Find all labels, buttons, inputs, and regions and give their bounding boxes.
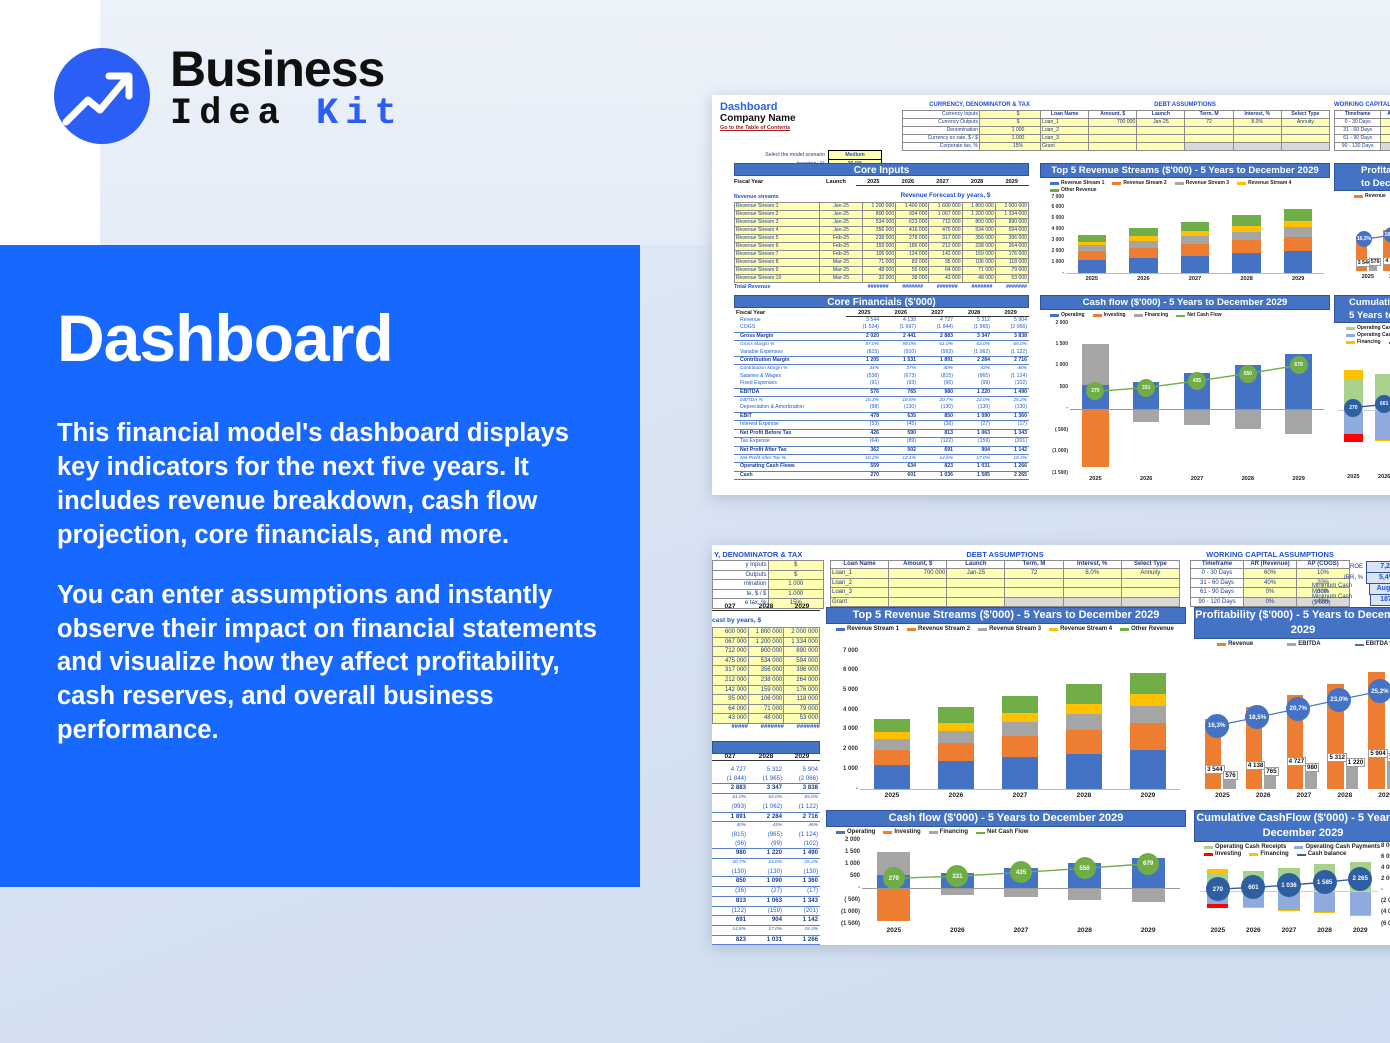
stream-value-clipped[interactable]: 475 000	[713, 656, 749, 666]
stream-value-clipped[interactable]: 142 000	[713, 685, 749, 695]
debt-table-b[interactable]: Loan NameAmount, $LaunchTerm, MInterest,…	[830, 560, 1180, 607]
debt-cell[interactable]: Loan_3	[1041, 135, 1089, 143]
stream-launch[interactable]: Jan-25	[820, 219, 863, 227]
wc-cell[interactable]: 31 - 60 Days	[1191, 578, 1244, 588]
debt-cell[interactable]: 72	[1005, 569, 1063, 579]
brand-logo: Business Idea Kit	[52, 42, 472, 150]
wc-cell[interactable]: 40%	[1381, 127, 1390, 135]
stream-value[interactable]: 159 000	[962, 251, 995, 259]
table-row: Revenue3 5444 1384 7275 3125 904	[734, 317, 1029, 324]
currency-row: te, $ / $1.000	[713, 589, 824, 599]
debt-col-header: Term, M	[1005, 561, 1063, 569]
debt-cell[interactable]	[1137, 135, 1185, 143]
debt-cell[interactable]	[889, 597, 947, 607]
debt-cell[interactable]	[1233, 135, 1281, 143]
stream-launch[interactable]: Jan-25	[820, 227, 863, 235]
debt-cell[interactable]	[947, 588, 1005, 598]
stream-name[interactable]: Revenue Stream 4	[735, 227, 820, 235]
cf-value: 16.3%	[844, 397, 881, 405]
stream-value[interactable]: 1 400 000	[896, 203, 929, 211]
cf-value-clipped: 1 266	[784, 935, 820, 945]
currency-row: Outputs$	[713, 570, 824, 580]
stream-value-clipped[interactable]: 800 000	[748, 647, 784, 657]
legend-swatch	[836, 628, 845, 632]
debt-cell[interactable]	[1063, 597, 1121, 607]
currency-value[interactable]: 1.000	[768, 589, 824, 599]
chart-cashflow-plot: (1 500)(1 000)( 500)-5001 0001 5002 0002…	[1040, 319, 1330, 487]
brand-wordmark: Business Idea Kit	[170, 44, 404, 134]
legend-swatch	[1237, 182, 1246, 186]
stream-value[interactable]: 238 000	[962, 243, 995, 251]
wc-cell[interactable]: 61 - 90 Days	[1191, 588, 1244, 598]
bar-segment	[1066, 754, 1101, 789]
cf-value: 1 585	[955, 471, 992, 479]
stream-value[interactable]: 124 000	[896, 251, 929, 259]
table-row: (130)(130)(130)	[712, 868, 820, 877]
total-revenue-label: Total Revenue	[734, 284, 816, 290]
stream-value[interactable]: 1 200 000	[863, 203, 896, 211]
stream-value-clipped[interactable]: 317 000	[713, 666, 749, 676]
stream-value-clipped[interactable]: 95 000	[713, 695, 749, 705]
year-header: 2029	[994, 179, 1029, 185]
cf-value-clipped: 14.6%	[712, 925, 748, 935]
debt-cell[interactable]	[1185, 135, 1233, 143]
stream-launch[interactable]: Mar-25	[820, 267, 863, 275]
cf-value-clipped: (1 124)	[784, 831, 820, 840]
bar-segment	[1284, 227, 1312, 237]
dashboard-screenshot-bottom[interactable]: Y, DENOMINATOR & TAX y Inputs$Outputs$mi…	[712, 545, 1390, 945]
stream-launch[interactable]: Mar-25	[820, 259, 863, 267]
stream-value[interactable]: 71 000	[863, 259, 896, 267]
bar-segment	[1066, 730, 1101, 754]
debt-cell[interactable]	[1005, 578, 1063, 588]
cf-year-header-clipped: 027	[712, 753, 748, 760]
debt-cell[interactable]	[1185, 127, 1233, 135]
cf-value: 2 883	[918, 332, 955, 340]
stream-value-clipped[interactable]: 48 000	[748, 714, 784, 724]
cf-row-label: COGS	[734, 324, 844, 332]
wc-table[interactable]: TimeframeAR (Revenue)AP (COGS) 0 - 30 Da…	[1334, 110, 1390, 151]
stream-value[interactable]: 1 600 000	[929, 203, 962, 211]
legend-swatch	[836, 831, 845, 835]
dashboard-screenshot-top[interactable]: Dashboard Company Name Go to the Table o…	[712, 95, 1390, 495]
core-financials-table-clipped: 4 7275 3125 904(1 844)(1 965)(2 066)2 88…	[712, 766, 820, 945]
chart-profitability-b[interactable]: Profitability ($'000) - 5 Years to Decem…	[1194, 607, 1390, 805]
cf-value-clipped: 46%	[784, 822, 820, 831]
stream-value[interactable]: 475 000	[929, 227, 962, 235]
debt-cell[interactable]	[947, 578, 1005, 588]
stream-value[interactable]: 1 200 000	[962, 211, 995, 219]
wc-cell[interactable]: 0%	[1381, 135, 1390, 143]
debt-cell[interactable]	[1185, 143, 1233, 151]
stream-value-clipped[interactable]: 106 000	[748, 695, 784, 705]
table-row: 8501 0901 360	[712, 877, 820, 887]
bar-segment	[874, 750, 909, 766]
cf-value-clipped: (130)	[784, 868, 820, 877]
wc-cell[interactable]: 60%	[1244, 569, 1297, 579]
total-revenue-value: #######	[856, 284, 891, 290]
stream-launch[interactable]: Jan-25	[820, 211, 863, 219]
chart-top5-plot: -1 0002 0003 0004 0005 0006 0007 0002025…	[1040, 193, 1330, 285]
stream-value[interactable]: 38 000	[896, 275, 929, 283]
debt-cell[interactable]: Grant	[1041, 143, 1089, 151]
debt-cell[interactable]	[1121, 588, 1179, 598]
stream-value[interactable]: 594 000	[995, 227, 1028, 235]
cf-value: 980	[918, 388, 955, 396]
cf-value-clipped: (1 965)	[748, 775, 784, 784]
cf-value: (965)	[955, 373, 992, 380]
stream-value-clipped[interactable]: 396 000	[784, 666, 820, 676]
wc-col-header: AR (Revenue)	[1244, 561, 1297, 569]
debt-col-header: Launch	[1137, 111, 1185, 119]
cf-value: 1 360	[992, 412, 1029, 420]
stream-value-clipped[interactable]: 594 000	[784, 656, 820, 666]
debt-cell[interactable]: Loan_2	[1041, 127, 1089, 135]
debt-cell[interactable]: 700 000	[1089, 119, 1137, 127]
cf-value: 14.6%	[918, 454, 955, 462]
stream-value[interactable]: 1 800 000	[962, 203, 995, 211]
stream-value[interactable]: 56 000	[896, 267, 929, 275]
legend-item: Net Cash Flow	[1176, 312, 1221, 319]
cf-row-label: Fixed Expenses	[734, 380, 844, 388]
debt-cell[interactable]	[1121, 578, 1179, 588]
stream-value[interactable]: 356 000	[863, 227, 896, 235]
legend-swatch	[976, 832, 985, 834]
stream-value[interactable]: 186 000	[896, 243, 929, 251]
stream-launch[interactable]: Mar-25	[820, 275, 863, 283]
cf-year-header-clipped: 2028	[748, 753, 784, 760]
stream-value[interactable]: 934 000	[896, 211, 929, 219]
currency-row: mination1 000	[713, 580, 824, 590]
table-row: Tax Expense(64)(89)(122)(159)(201)	[734, 438, 1029, 446]
stream-launch[interactable]: Feb-25	[820, 251, 863, 259]
cf-value: (1 697)	[881, 324, 918, 332]
table-row: Revenue Stream 3Jan-25534 000623 000712 …	[735, 219, 1029, 227]
stream-value-clipped[interactable]: 534 000	[748, 656, 784, 666]
bar-segment	[1232, 215, 1260, 226]
revenue-forecast-clipped-wrap[interactable]: 600 0001 800 0002 000 000067 0001 200 00…	[712, 627, 820, 730]
y-tick-label: 3 000	[1051, 237, 1064, 243]
stream-value-clipped[interactable]: 890 000	[784, 647, 820, 657]
stream-value[interactable]: 317 000	[929, 235, 962, 243]
wc-cell[interactable]: 0%	[1244, 597, 1297, 607]
debt-cell[interactable]	[1137, 127, 1185, 135]
debt-col-header: Amount, $	[1089, 111, 1137, 119]
chart-cumulative-b[interactable]: Cumulative CashFlow ($'000) - 5 Years to…	[1194, 810, 1390, 940]
cf-value-clipped: 25.2%	[784, 859, 820, 868]
stream-value[interactable]: 159 000	[863, 243, 896, 251]
debt-cell[interactable]	[1063, 578, 1121, 588]
stream-value[interactable]: 43 000	[929, 275, 962, 283]
debt-cell[interactable]	[1005, 597, 1063, 607]
currency-table[interactable]: Currency Inputs$Currency Outputs$Denomin…	[902, 110, 1057, 151]
legend-item: Revenue Stream 2	[907, 626, 970, 633]
stream-name[interactable]: Revenue Stream 8	[735, 259, 820, 267]
revenue-forecast-table-wrap[interactable]: Revenue Stream 1Jan-251 200 0001 400 000…	[734, 202, 1029, 290]
currency-value[interactable]: $	[768, 561, 824, 571]
cf-value: (96)	[918, 380, 955, 388]
cf-value: 23.0%	[955, 397, 992, 405]
table-row: Loan_2	[1041, 127, 1330, 135]
stream-value[interactable]: 534 000	[863, 219, 896, 227]
stream-value-clipped[interactable]: 53 000	[784, 714, 820, 724]
cf-value: (1 524)	[844, 324, 881, 332]
stream-value[interactable]: 800 000	[863, 211, 896, 219]
core-inputs-banner: Core Inputs	[734, 163, 1029, 176]
debt-cell[interactable]: Grant	[831, 597, 889, 607]
stream-value[interactable]: 623 000	[896, 219, 929, 227]
debt-cell[interactable]	[1281, 135, 1329, 143]
wc-cell[interactable]: 61 - 90 Days	[1335, 135, 1381, 143]
stream-launch[interactable]: Feb-25	[820, 235, 863, 243]
stream-value[interactable]: 176 000	[995, 251, 1028, 259]
chart-top5-revenue-b[interactable]: Top 5 Revenue Streams ($'000) - 5 Years …	[826, 607, 1186, 805]
stream-value-clipped[interactable]: 79 000	[784, 704, 820, 714]
table-row: 475 000534 000594 000	[713, 656, 820, 666]
debt-cell[interactable]: 72	[1185, 119, 1233, 127]
stream-value[interactable]: 106 000	[962, 259, 995, 267]
revenue-forecast-table-clipped[interactable]: 600 0001 800 0002 000 000067 0001 200 00…	[712, 627, 820, 724]
stream-value[interactable]: 1 067 000	[929, 211, 962, 219]
bar-segment	[1284, 251, 1312, 273]
stream-value[interactable]: 278 000	[896, 235, 929, 243]
debt-cell[interactable]	[947, 597, 1005, 607]
table-row: Revenue Stream 4Jan-25356 000416 000475 …	[735, 227, 1029, 235]
cf-value: (1 124)	[992, 373, 1029, 380]
stream-value-clipped[interactable]: 067 000	[713, 637, 749, 647]
legend-item: Revenue Stream 1	[1050, 180, 1104, 187]
bar-segment	[938, 707, 973, 722]
stream-value-clipped[interactable]: 43 000	[713, 714, 749, 724]
debt-cell[interactable]	[1063, 588, 1121, 598]
chart-cashflow-title: Cash flow ($'000) - 5 Years to December …	[1040, 295, 1330, 310]
y-tick-label: 4 000	[843, 707, 858, 713]
stream-value[interactable]: 64 000	[929, 267, 962, 275]
category-label: 2026	[1118, 276, 1170, 282]
chart-cash-flow-b[interactable]: Cash flow ($'000) - 5 Years to December …	[826, 810, 1186, 940]
stream-value-clipped[interactable]: 712 000	[713, 647, 749, 657]
cash-balance-bubble: 601	[1375, 395, 1390, 413]
stream-value[interactable]: 95 000	[929, 259, 962, 267]
stream-value[interactable]: 890 000	[995, 219, 1028, 227]
chart-top5-revenue[interactable]: Top 5 Revenue Streams ($'000) - 5 Years …	[1040, 163, 1330, 285]
stream-value[interactable]: 71 000	[962, 267, 995, 275]
debt-table-head-b: Loan NameAmount, $LaunchTerm, MInterest,…	[831, 561, 1180, 569]
currency-value[interactable]: $	[768, 570, 824, 580]
stream-value[interactable]: 712 000	[929, 219, 962, 227]
chart-top5-plot-b: -1 0002 0003 0004 0005 0006 0007 0002025…	[826, 647, 1186, 805]
currency-table-clipped[interactable]: y Inputs$Outputs$mination1 000te, $ / $1…	[712, 560, 824, 609]
stream-value-clipped[interactable]: 356 000	[748, 666, 784, 676]
bar-segment	[1181, 244, 1209, 256]
revenue-forecast-body-clipped: 600 0001 800 0002 000 000067 0001 200 00…	[713, 628, 820, 724]
stream-name[interactable]: Revenue Stream 3	[735, 219, 820, 227]
cf-value: 2 020	[844, 332, 881, 340]
cf-value: 2 284	[955, 357, 992, 365]
cf-value-clipped: 1 090	[748, 877, 784, 887]
table-row: Gross Margin2 0202 4412 8833 3473 838	[734, 332, 1029, 340]
revenue-forecast-table[interactable]: Revenue Stream 1Jan-251 200 0001 400 000…	[734, 202, 1029, 283]
kpi-label: IRR, %	[1344, 575, 1363, 581]
total-revenue-value: #######	[925, 284, 960, 290]
legend-label: Other Revenue	[1131, 626, 1174, 633]
stream-name[interactable]: Revenue Stream 1	[735, 203, 820, 211]
stream-value[interactable]: 238 000	[863, 235, 896, 243]
stream-value-clipped[interactable]: 600 000	[713, 628, 749, 638]
wc-cell[interactable]: 0%	[1381, 143, 1390, 151]
kpi-label: ROE	[1350, 564, 1363, 570]
stream-value[interactable]: 356 000	[962, 235, 995, 243]
core-financials-years: 20252026202720282029	[846, 310, 1029, 317]
debt-cell[interactable]: Annuity	[1121, 569, 1179, 579]
table-of-contents-link[interactable]: Go to the Table of Contents	[720, 124, 830, 132]
stream-value[interactable]: 396 000	[995, 235, 1028, 243]
brand-kit-text: Kit	[316, 93, 404, 135]
wc-cell[interactable]: 40%	[1244, 578, 1297, 588]
stream-value[interactable]: 264 000	[995, 243, 1028, 251]
debt-cell[interactable]: 8.0%	[1233, 119, 1281, 127]
stream-value[interactable]: 53 000	[995, 275, 1028, 283]
legend-label: Revenue Stream 2	[918, 626, 970, 633]
debt-cell[interactable]	[1005, 588, 1063, 598]
chart-top5-legend: Revenue Stream 1Revenue Stream 2Revenue …	[1040, 178, 1330, 194]
cf-value-clipped: 1 360	[784, 877, 820, 887]
debt-cell[interactable]: Jan-25	[947, 569, 1005, 579]
y-tick-label: -	[1062, 270, 1064, 276]
table-row: Grant	[1041, 143, 1330, 151]
year-header: 2026	[891, 179, 926, 185]
stream-value-clipped[interactable]: 264 000	[784, 675, 820, 685]
debt-cell[interactable]	[1089, 143, 1137, 151]
stream-value[interactable]: 142 000	[929, 251, 962, 259]
stream-value-clipped[interactable]: 1 334 000	[784, 637, 820, 647]
stream-value-clipped[interactable]: 118 000	[784, 695, 820, 705]
debt-cell[interactable]	[889, 588, 947, 598]
stream-value-clipped[interactable]: 159 000	[748, 685, 784, 695]
stream-value-clipped[interactable]: 1 200 000	[748, 637, 784, 647]
debt-cell[interactable]	[1121, 597, 1179, 607]
cf-value: (130)	[992, 404, 1029, 412]
debt-cell[interactable]	[1233, 127, 1281, 135]
bar-segment	[1129, 236, 1157, 241]
debt-cell[interactable]	[1089, 127, 1137, 135]
debt-cell[interactable]	[1137, 143, 1185, 151]
wc-cell[interactable]: 0%	[1244, 588, 1297, 598]
stream-value[interactable]: 48 000	[962, 275, 995, 283]
stream-value[interactable]: 48 000	[863, 267, 896, 275]
stream-value-clipped[interactable]: 2 000 000	[784, 628, 820, 638]
cf-value: 691	[918, 446, 955, 454]
stream-value[interactable]: 83 000	[896, 259, 929, 267]
debt-cell[interactable]: Loan_3	[831, 588, 889, 598]
stream-name[interactable]: Revenue Stream 6	[735, 243, 820, 251]
stream-name[interactable]: Revenue Stream 7	[735, 251, 820, 259]
stream-value[interactable]: 118 000	[995, 259, 1028, 267]
stream-value[interactable]: 2 000 000	[995, 203, 1028, 211]
debt-cell[interactable]: 700 000	[889, 569, 947, 579]
stream-value[interactable]: 79 000	[995, 267, 1028, 275]
table-row: 9801 2201 490	[712, 849, 820, 859]
stream-value-clipped[interactable]: 1 800 000	[748, 628, 784, 638]
bar-segment	[1232, 232, 1260, 241]
bar-segment	[1002, 757, 1037, 789]
debt-cell[interactable]: 8.0%	[1063, 569, 1121, 579]
stream-value[interactable]: 1 334 000	[995, 211, 1028, 219]
stream-value-clipped[interactable]: 238 000	[748, 675, 784, 685]
stream-value-clipped[interactable]: 176 000	[784, 685, 820, 695]
core-financials-banner: Core Financials ($'000)	[734, 295, 1029, 308]
category-label: 2028	[1221, 276, 1273, 282]
cash-balance-bubble: 1 585	[1313, 870, 1337, 894]
debt-table[interactable]: Loan NameAmount, $LaunchTerm, MInterest,…	[1040, 110, 1330, 151]
wc-cell[interactable]: 60%	[1381, 119, 1390, 127]
stream-name[interactable]: Revenue Stream 9	[735, 267, 820, 275]
cf-value: (130)	[955, 404, 992, 412]
debt-cell[interactable]	[1281, 143, 1329, 151]
wc-cell[interactable]: 90 - 120 Days	[1335, 143, 1381, 151]
chart-cash-flow[interactable]: Cash flow ($'000) - 5 Years to December …	[1040, 295, 1330, 487]
wc-cell[interactable]: 31 - 60 Days	[1335, 127, 1381, 135]
ebitda-percent-bubble: 25,2%	[1368, 679, 1390, 703]
chart-profitability-title: Profitability ($'000) - 5 Years to Decem…	[1334, 163, 1390, 191]
cf-value-clipped: 63.0%	[748, 794, 784, 803]
wc-cell[interactable]: 0 - 30 Days	[1191, 569, 1244, 579]
wc-cell[interactable]: 90 - 120 Days	[1191, 597, 1244, 607]
cf-value: (673)	[881, 373, 918, 380]
chart-cumulative-cashflow[interactable]: Cumulative CashFlow ($'000) - 5 Years to…	[1334, 295, 1390, 487]
debt-cell[interactable]: Loan_2	[831, 578, 889, 588]
wc-col-header: Timeframe	[1191, 561, 1244, 569]
legend-swatch	[1175, 182, 1184, 186]
debt-cell[interactable]: Jan-25	[1137, 119, 1185, 127]
cf-row-label: Salaries & Wages	[734, 373, 844, 380]
debt-cell[interactable]: Loan_1	[1041, 119, 1089, 127]
bar-segment	[1002, 713, 1037, 722]
cf-value: 576	[844, 388, 881, 396]
wc-cell[interactable]: 0 - 30 Days	[1335, 119, 1381, 127]
debt-cell[interactable]	[1281, 127, 1329, 135]
stream-name[interactable]: Revenue Stream 5	[735, 235, 820, 243]
stream-name[interactable]: Revenue Stream 10	[735, 275, 820, 283]
chart-profitability[interactable]: Profitability ($'000) - 5 Years to Decem…	[1334, 163, 1390, 285]
stream-name[interactable]: Revenue Stream 2	[735, 211, 820, 219]
stream-value[interactable]: 534 000	[962, 227, 995, 235]
stream-value-clipped[interactable]: 64 000	[713, 704, 749, 714]
table-row: 90 - 120 Days0%40%	[1335, 143, 1390, 151]
stream-value[interactable]: 106 000	[863, 251, 896, 259]
debt-cell[interactable]	[1089, 135, 1137, 143]
ebitda-percent-bubble: 23,0%	[1327, 688, 1351, 712]
stream-value[interactable]: 800 000	[962, 219, 995, 227]
stream-value[interactable]: 212 000	[929, 243, 962, 251]
sheet-title: Dashboard	[720, 101, 830, 113]
cf-value: 634	[881, 463, 918, 471]
debt-cell[interactable]: Loan_1	[831, 569, 889, 579]
debt-cell[interactable]	[889, 578, 947, 588]
debt-cell[interactable]: Annuity	[1281, 119, 1329, 127]
table-row: Variable Expenses(815)(910)(993)(1 062)(…	[734, 349, 1029, 357]
table-row: COGS(1 524)(1 697)(1 844)(1 965)(2 066)	[734, 324, 1029, 332]
stream-value-clipped[interactable]: 71 000	[748, 704, 784, 714]
stream-launch[interactable]: Jan-25	[820, 203, 863, 211]
stream-value[interactable]: 416 000	[896, 227, 929, 235]
stream-value[interactable]: 32 000	[863, 275, 896, 283]
debt-cell[interactable]	[1233, 143, 1281, 151]
stream-value-clipped[interactable]: 212 000	[713, 675, 749, 685]
currency-value[interactable]: 1 000	[768, 580, 824, 590]
stream-launch[interactable]: Feb-25	[820, 243, 863, 251]
cf-value-clipped: 3 347	[748, 784, 784, 794]
